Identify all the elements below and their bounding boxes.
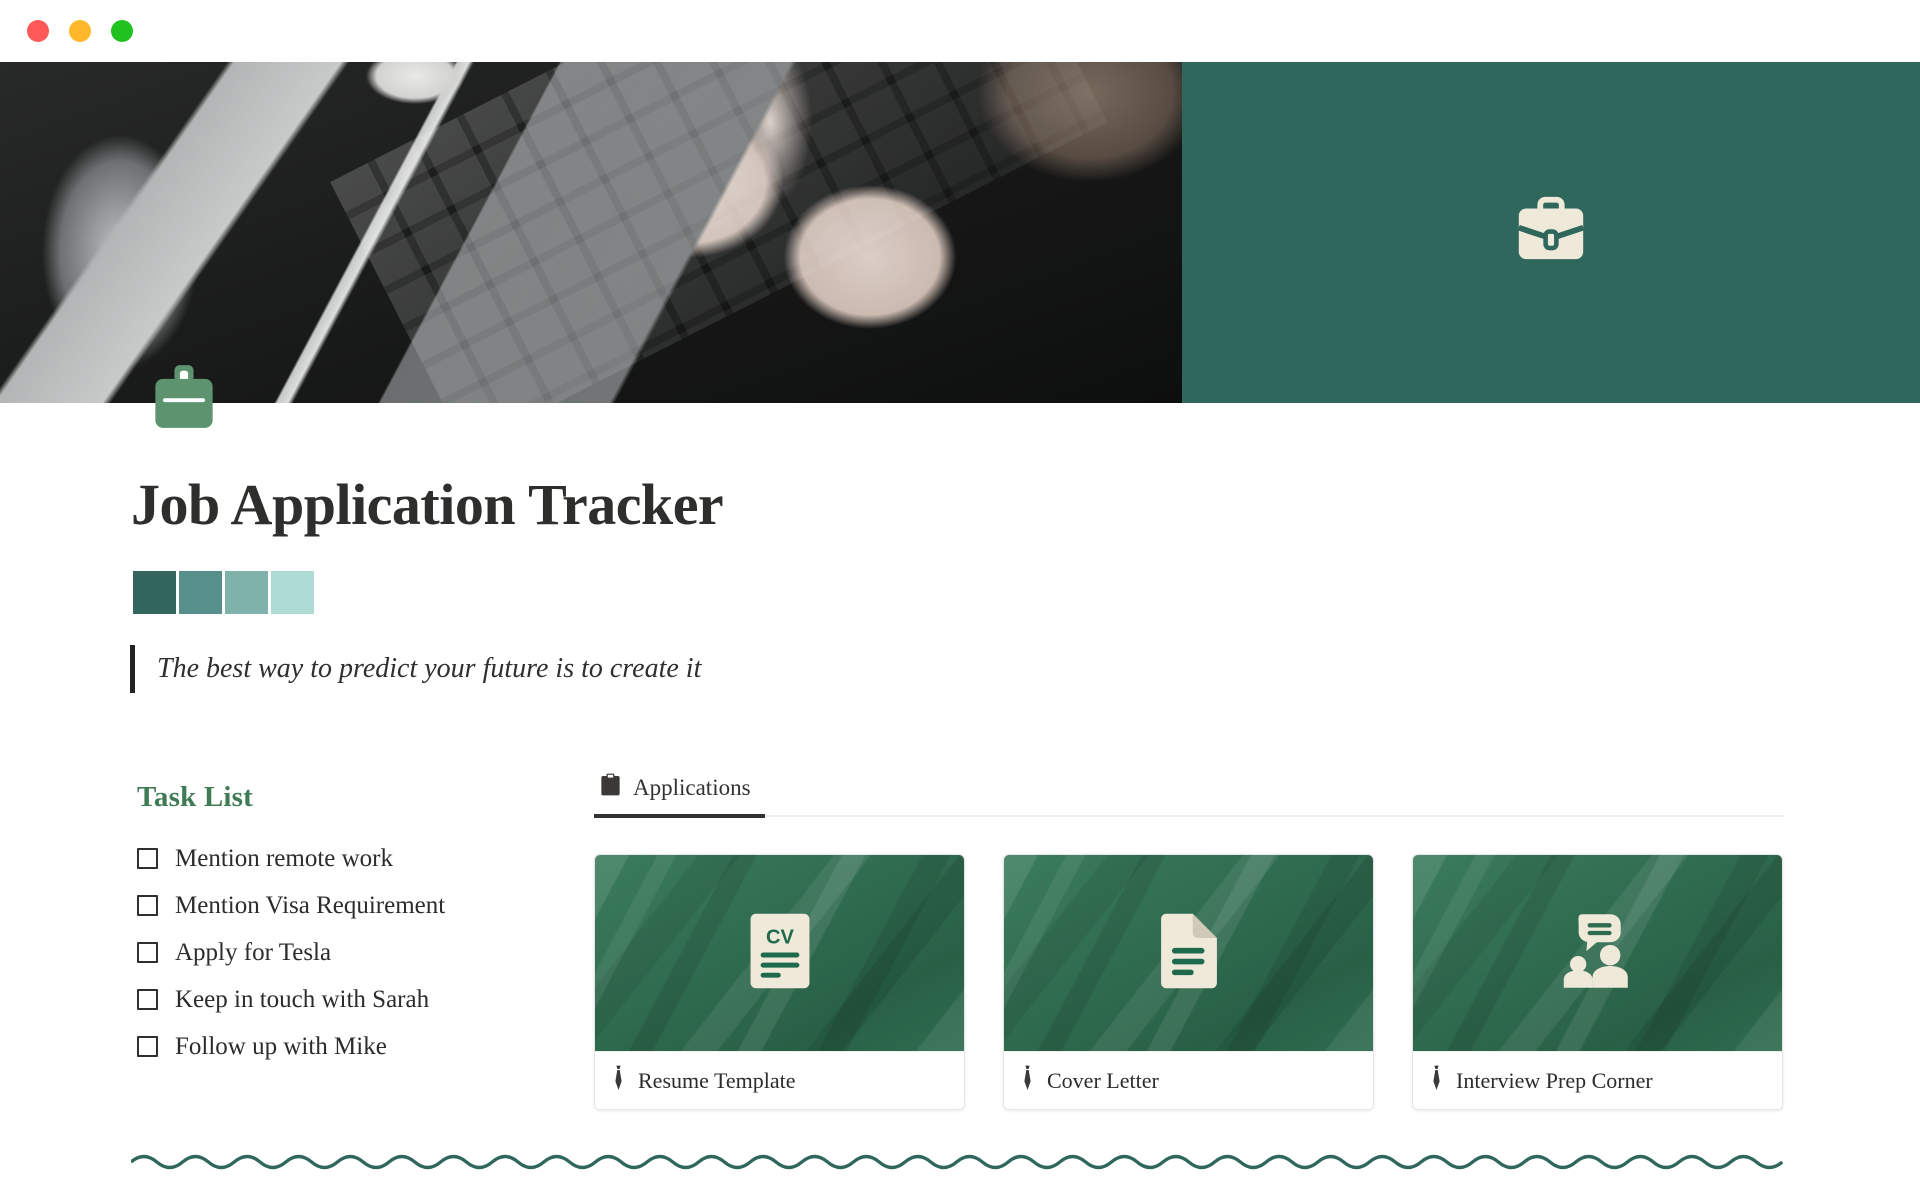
- necktie-icon: [1022, 1065, 1033, 1096]
- card-label: Resume Template: [638, 1068, 796, 1094]
- cv-document-icon: CV: [749, 912, 811, 995]
- task-checkbox[interactable]: [137, 989, 158, 1010]
- applications-panel: Applications CV: [594, 773, 1784, 1110]
- card-grid: CV Resume Template: [594, 854, 1784, 1110]
- window-maximize-button[interactable]: [111, 20, 133, 42]
- window-close-button[interactable]: [27, 20, 49, 42]
- wavy-divider: [131, 1148, 1784, 1176]
- task-list-item[interactable]: Mention Visa Requirement: [137, 882, 517, 929]
- hero-green-panel: [1182, 62, 1920, 403]
- card-label: Interview Prep Corner: [1456, 1068, 1653, 1094]
- hero-banner: [0, 62, 1920, 403]
- swatch-dark-teal[interactable]: [133, 571, 176, 614]
- necktie-icon: [613, 1065, 624, 1096]
- task-label: Mention Visa Requirement: [175, 892, 445, 920]
- hero-photo: [0, 62, 1182, 403]
- card-label: Cover Letter: [1047, 1068, 1159, 1094]
- task-label: Mention remote work: [175, 845, 393, 873]
- tab-bar: Applications: [594, 773, 1784, 817]
- card-footer: Cover Letter: [1004, 1051, 1373, 1109]
- task-checkbox[interactable]: [137, 895, 158, 916]
- svg-text:CV: CV: [766, 926, 795, 948]
- tab-applications[interactable]: Applications: [594, 773, 765, 818]
- task-list-item[interactable]: Apply for Tesla: [137, 929, 517, 976]
- quote-block: The best way to predict your future is t…: [130, 645, 701, 693]
- document-page-icon: [1158, 912, 1220, 995]
- card-resume-template[interactable]: CV Resume Template: [594, 854, 965, 1110]
- clipboard-icon: [600, 773, 621, 802]
- card-footer: Resume Template: [595, 1051, 964, 1109]
- card-cover-image: [1413, 855, 1782, 1051]
- task-checkbox[interactable]: [137, 848, 158, 869]
- card-interview-prep-corner[interactable]: Interview Prep Corner: [1412, 854, 1783, 1110]
- task-label: Follow up with Mike: [175, 1033, 387, 1061]
- card-cover-letter[interactable]: Cover Letter: [1003, 854, 1374, 1110]
- card-cover-image: [1004, 855, 1373, 1051]
- window-titlebar: [0, 0, 1920, 62]
- quote-accent-bar: [130, 645, 135, 693]
- task-list-heading: Task List: [137, 781, 517, 814]
- task-list-item[interactable]: Follow up with Mike: [137, 1023, 517, 1070]
- card-footer: Interview Prep Corner: [1413, 1051, 1782, 1109]
- task-checkbox[interactable]: [137, 1036, 158, 1057]
- card-cover-image: CV: [595, 855, 964, 1051]
- task-list-item[interactable]: Mention remote work: [137, 835, 517, 882]
- briefcase-icon: [1505, 184, 1597, 281]
- task-list-section: Task List Mention remote work Mention Vi…: [137, 781, 517, 1070]
- window-minimize-button[interactable]: [69, 20, 91, 42]
- people-chat-icon: [1556, 911, 1640, 996]
- swatch-pale-teal[interactable]: [271, 571, 314, 614]
- color-swatch-row: [133, 571, 314, 614]
- swatch-light-teal[interactable]: [225, 571, 268, 614]
- task-label: Keep in touch with Sarah: [175, 986, 429, 1014]
- tab-label: Applications: [633, 775, 751, 801]
- task-label: Apply for Tesla: [175, 939, 331, 967]
- necktie-icon: [1431, 1065, 1442, 1096]
- page-title: Job Application Tracker: [131, 471, 723, 538]
- task-checkbox[interactable]: [137, 942, 158, 963]
- task-list-item[interactable]: Keep in touch with Sarah: [137, 976, 517, 1023]
- swatch-medium-teal[interactable]: [179, 571, 222, 614]
- page-briefcase-icon[interactable]: [145, 362, 223, 432]
- quote-text: The best way to predict your future is t…: [157, 645, 701, 693]
